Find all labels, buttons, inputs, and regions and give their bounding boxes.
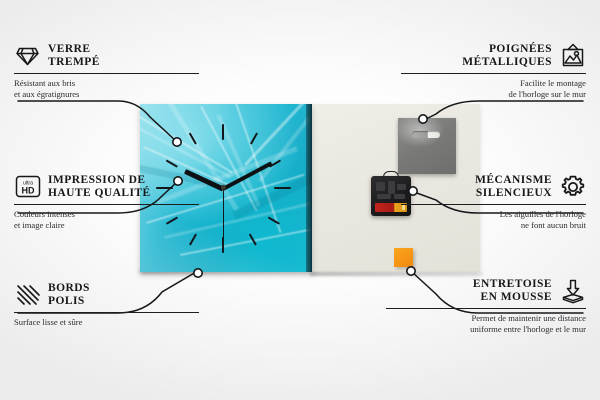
callout-subtitle-line: et aux égratignures [14,89,199,100]
callout-header: ENTRETOISE EN MOUSSE [386,277,586,304]
callout-verre-trempe: VERRE TREMPÉ Résistant aux bris et aux é… [14,42,199,99]
callout-title: MÉCANISME SILENCIEUX [475,174,552,199]
picture-frame-icon [559,42,586,69]
callout-header: POIGNÉES MÉTALLIQUES [401,42,586,69]
bracket-keyhole-slot [412,131,440,138]
callout-title: POIGNÉES MÉTALLIQUES [462,43,552,68]
foam-spacer [394,248,413,267]
diamond-icon [14,42,41,69]
infographic-stage: VERRE TREMPÉ Résistant aux bris et aux é… [0,0,600,400]
callout-divider [401,73,586,74]
callout-header: VERRE TREMPÉ [14,42,199,69]
callout-mecanisme-silencieux: MÉCANISME SILENCIEUX Les aiguilles de l'… [401,173,586,230]
mechanism-hanger [383,171,399,179]
callout-subtitle-line: Couleurs intenses [14,209,199,220]
callout-entretoise-en-mousse: ENTRETOISE EN MOUSSE Permet de maintenir… [386,277,586,334]
callout-divider [386,308,586,309]
metal-bracket [398,118,456,174]
callout-subtitle-line: Surface lisse et sûre [14,317,199,328]
callout-title: BORDS POLIS [48,282,90,307]
callout-divider [14,312,199,313]
callout-subtitle-line: Permet de maintenir une distance [386,313,586,324]
callout-header: MÉCANISME SILENCIEUX [401,173,586,200]
callout-subtitle-line: de l'horloge sur le mur [401,89,586,100]
callout-subtitle-line: Les aiguilles de l'horloge [401,209,586,220]
foam-spacer-icon [559,277,586,304]
callout-header: BORDS POLIS [14,281,199,308]
callout-bords-polis: BORDS POLIS Surface lisse et sûre [14,281,199,328]
ultra-hd-icon: ultra HD [14,173,41,200]
gear-icon [559,173,586,200]
callout-title: IMPRESSION DE HAUTE QUALITÉ [48,174,151,199]
callout-subtitle-line: ne font aucun bruit [401,220,586,231]
callout-subtitle-line: Résistant aux bris [14,78,199,89]
svg-text:HD: HD [21,185,34,195]
callout-title: ENTRETOISE EN MOUSSE [473,278,552,303]
polished-edge-icon [14,281,41,308]
callout-header: ultra HD IMPRESSION DE HAUTE QUALITÉ [14,173,199,200]
callout-subtitle-line: Facilite le montage [401,78,586,89]
callout-title: VERRE TREMPÉ [48,43,100,68]
callout-divider [14,73,199,74]
callout-impression-haute-qualite: ultra HD IMPRESSION DE HAUTE QUALITÉ Cou… [14,173,199,230]
callout-subtitle-line: uniforme entre l'horloge et le mur [386,324,586,335]
callout-poignees-metalliques: POIGNÉES MÉTALLIQUES Facilite le montage… [401,42,586,99]
callout-divider [14,204,199,205]
callout-subtitle-line: et image claire [14,220,199,231]
callout-divider [401,204,586,205]
